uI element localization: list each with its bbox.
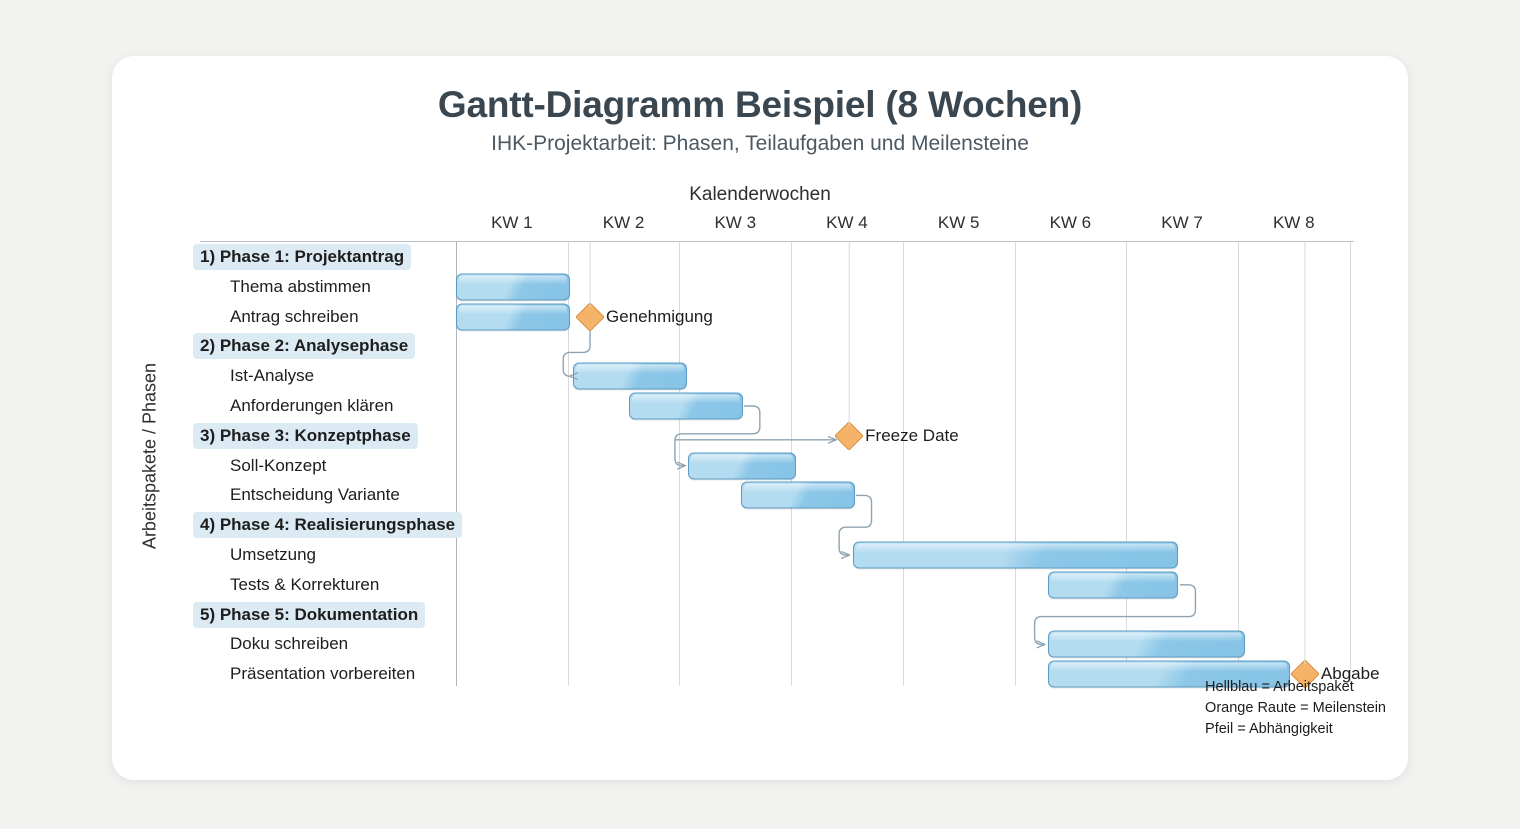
milestone-diamond[interactable] [834, 421, 864, 451]
milestone-diamond[interactable] [575, 302, 605, 332]
task-label: Soll-Konzept [230, 456, 326, 476]
task-label: Präsentation vorbereiten [230, 664, 415, 684]
axis-header-rule [200, 241, 1354, 242]
task-label: Umsetzung [230, 545, 316, 565]
task-bar[interactable] [456, 303, 570, 330]
x-tick-label-kw-3: KW 3 [714, 213, 756, 233]
x-tick-label-kw-8: KW 8 [1273, 213, 1315, 233]
x-tick-label-kw-2: KW 2 [603, 213, 645, 233]
y-axis-title: Arbeitspakete / Phasen [140, 363, 161, 549]
x-tick-label-kw-4: KW 4 [826, 213, 868, 233]
phase-label: 3) Phase 3: Konzeptphase [193, 423, 418, 449]
task-bar[interactable] [688, 452, 796, 479]
task-label: Antrag schreiben [230, 307, 359, 327]
x-tick-label-kw-1: KW 1 [491, 213, 533, 233]
task-label: Doku schreiben [230, 634, 348, 654]
x-tick-label-kw-5: KW 5 [938, 213, 980, 233]
x-tick-label-kw-7: KW 7 [1161, 213, 1203, 233]
gridline [1350, 242, 1351, 686]
x-tick-label-kw-6: KW 6 [1050, 213, 1092, 233]
task-label: Thema abstimmen [230, 277, 371, 297]
legend-line-bar: Hellblau = Arbeitspaket [1205, 677, 1386, 698]
task-bar[interactable] [573, 363, 687, 390]
milestone-label: Freeze Date [865, 426, 959, 446]
task-bar[interactable] [853, 542, 1179, 569]
gantt-plot: Kalenderwochen Arbeitspakete / Phasen KW… [112, 56, 1408, 780]
task-label: Entscheidung Variante [230, 485, 400, 505]
task-bar[interactable] [1048, 571, 1178, 598]
milestone-label: Genehmigung [606, 307, 713, 327]
gridline [903, 242, 904, 686]
task-label: Ist-Analyse [230, 366, 314, 386]
gridline [1015, 242, 1016, 686]
chart-card: Gantt-Diagramm Beispiel (8 Wochen) IHK-P… [112, 56, 1408, 780]
legend-line-milestone: Orange Raute = Meilenstein [1205, 698, 1386, 719]
legend-line-dependency: Pfeil = Abhängigkeit [1205, 719, 1386, 740]
gridline [1126, 242, 1127, 686]
legend: Hellblau = Arbeitspaket Orange Raute = M… [1205, 677, 1386, 740]
phase-label: 5) Phase 5: Dokumentation [193, 602, 425, 628]
task-bar[interactable] [741, 482, 855, 509]
phase-label: 4) Phase 4: Realisierungsphase [193, 512, 462, 538]
x-axis-title: Kalenderwochen [112, 184, 1408, 206]
gridline [1238, 242, 1239, 686]
task-label: Anforderungen klären [230, 396, 394, 416]
task-label: Tests & Korrekturen [230, 575, 379, 595]
phase-label: 1) Phase 1: Projektantrag [193, 244, 411, 270]
task-bar[interactable] [456, 273, 570, 300]
task-bar[interactable] [1048, 631, 1245, 658]
task-bar[interactable] [629, 393, 743, 420]
phase-label: 2) Phase 2: Analysephase [193, 333, 415, 359]
